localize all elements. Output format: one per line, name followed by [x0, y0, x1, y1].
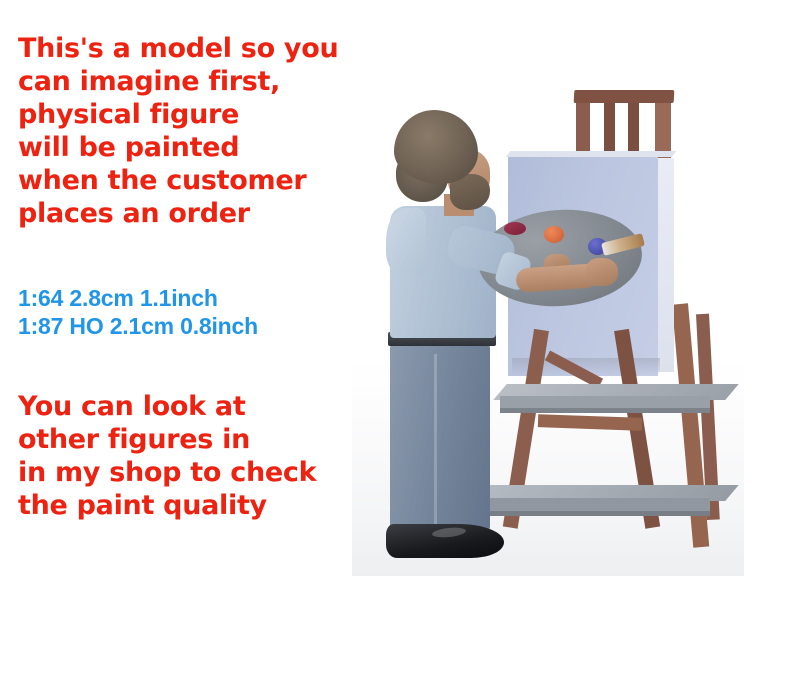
paint-blob-red	[504, 222, 526, 235]
listing-image: This's a model so you can imagine first,…	[0, 0, 794, 684]
notice-bottom-block: You can look at other figures in in my s…	[18, 390, 316, 522]
notice-top-line-3: physical figure	[18, 98, 338, 131]
product-photo	[352, 58, 744, 582]
figure-shoulder	[386, 208, 426, 274]
notice-bottom-line-4: the paint quality	[18, 489, 316, 522]
bottom-shelf-edge	[482, 511, 710, 516]
notice-top-block: This's a model so you can imagine first,…	[18, 32, 338, 230]
notice-top-line-4: will be painted	[18, 131, 338, 164]
notice-top-line-2: can imagine first,	[18, 65, 338, 98]
figure-trousers	[390, 344, 490, 534]
figure-hand	[586, 258, 618, 286]
paint-blob-orange	[544, 226, 564, 243]
figure-hair	[394, 110, 478, 184]
notice-bottom-line-3: in my shop to check	[18, 456, 316, 489]
top-shelf-edge	[500, 408, 710, 413]
figure-trouser-crease	[434, 354, 437, 530]
notice-top-line-1: This's a model so you	[18, 32, 338, 65]
notice-bottom-line-2: other figures in	[18, 423, 316, 456]
scale-info-line-1: 1:64 2.8cm 1.1inch	[18, 284, 258, 312]
text-column: This's a model so you can imagine first,…	[0, 0, 380, 684]
scale-info-line-2: 1:87 HO 2.1cm 0.8inch	[18, 312, 258, 340]
notice-top-line-6: places an order	[18, 197, 338, 230]
scale-info-block: 1:64 2.8cm 1.1inch 1:87 HO 2.1cm 0.8inch	[18, 284, 258, 340]
canvas-board-side	[658, 158, 674, 372]
floor-edge	[352, 576, 744, 582]
easel-frame-top-bar	[574, 90, 675, 103]
notice-bottom-line-1: You can look at	[18, 390, 316, 423]
bottom-shelf-front	[482, 498, 710, 512]
canvas-board-top-edge	[506, 151, 677, 157]
notice-top-line-5: when the customer	[18, 164, 338, 197]
